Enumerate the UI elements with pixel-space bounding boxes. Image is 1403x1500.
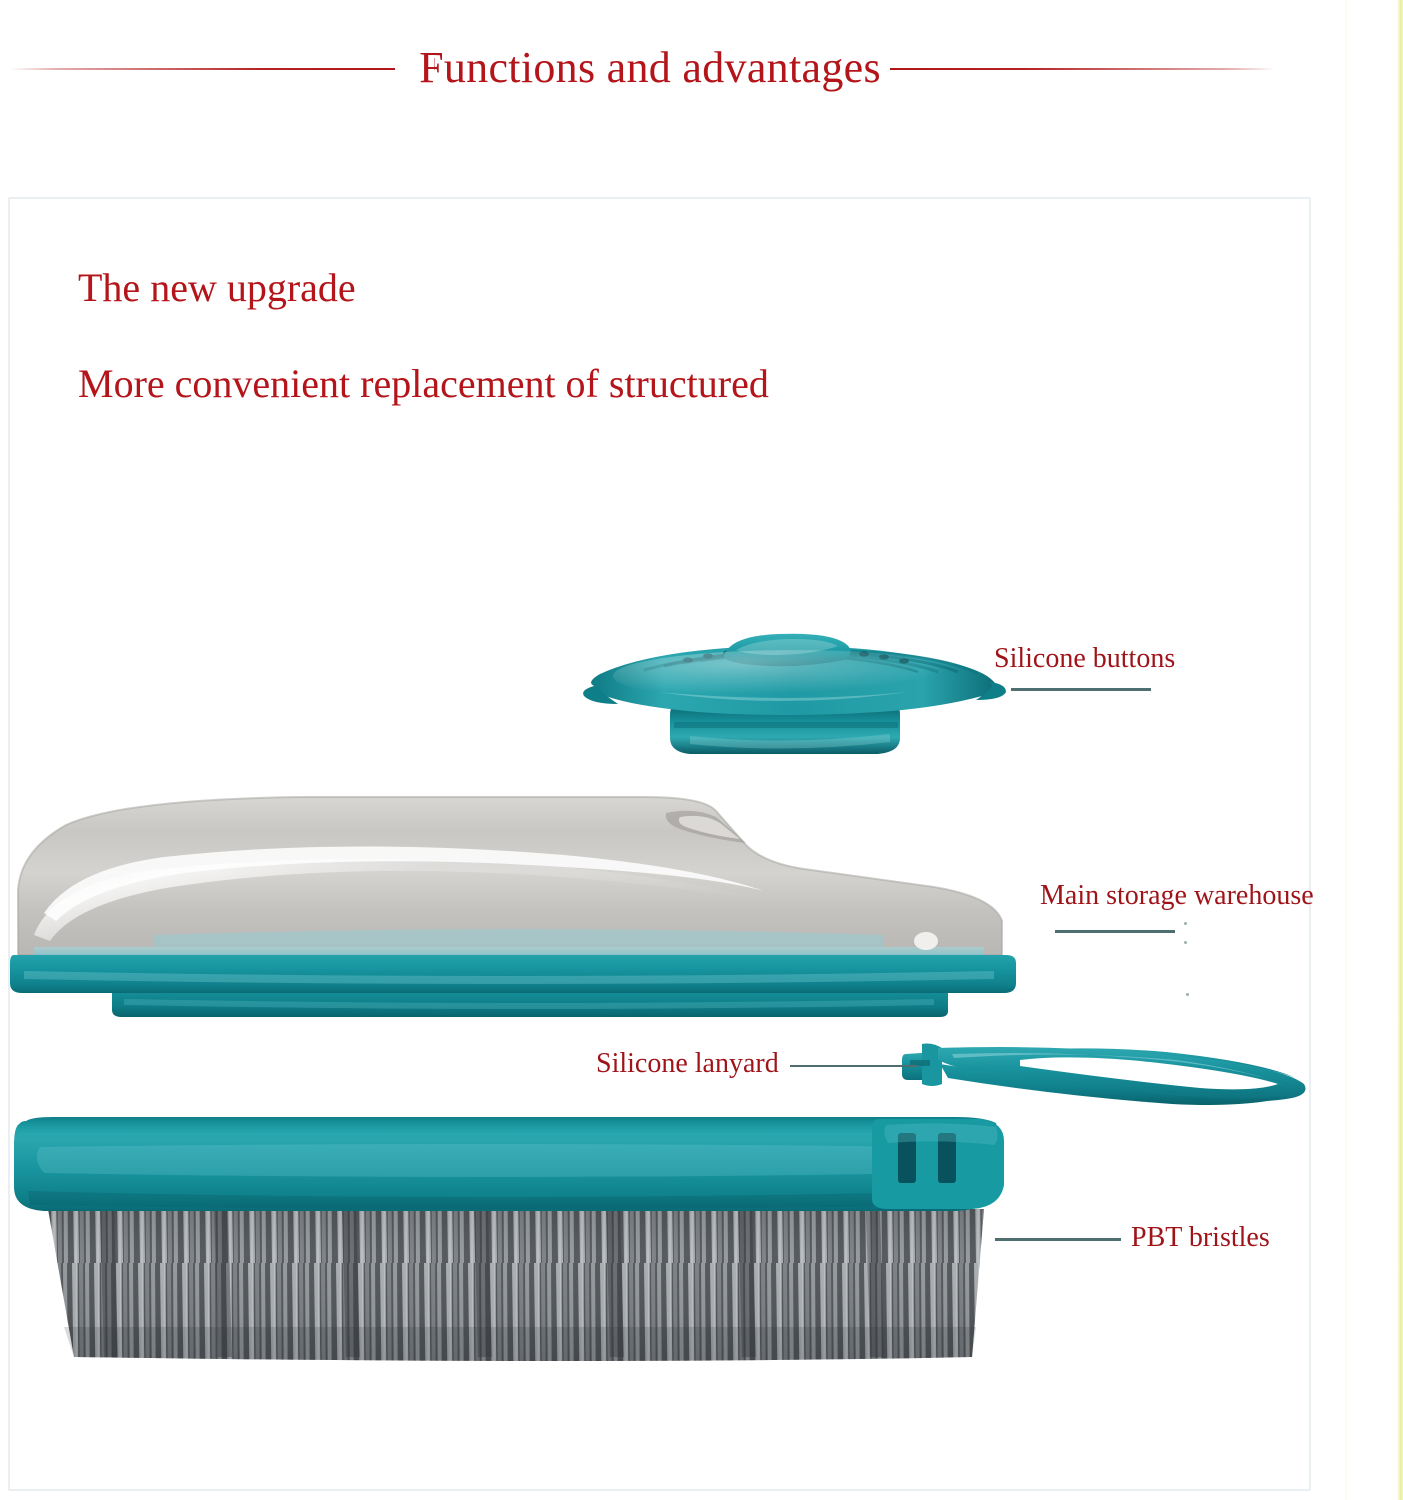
- silicone-button-cap-illustration: [578, 630, 1008, 775]
- leader-line-main-storage-warehouse: [1055, 930, 1175, 933]
- brush-head-illustration: [4, 1113, 1034, 1368]
- edge-accent-inner-line: [1345, 0, 1347, 1500]
- silicone-lanyard-illustration: [900, 1030, 1312, 1110]
- page-header: Functions and advantages: [0, 28, 1403, 108]
- leader-dot-upper: [1184, 922, 1187, 925]
- cap-gloss: [613, 650, 973, 702]
- cap-collar-groove: [674, 722, 898, 728]
- main-storage-warehouse-illustration: [4, 795, 1039, 1020]
- edge-accent-stripe: [1397, 0, 1403, 1500]
- leader-dot-trailing: [1186, 993, 1189, 996]
- pbt-bristle-field: [48, 1209, 984, 1361]
- brush-body-top-edge: [18, 1117, 997, 1135]
- leader-line-silicone-lanyard: [790, 1065, 918, 1067]
- callout-label-silicone-buttons: Silicone buttons: [994, 643, 1175, 675]
- leader-dot-lower: [1184, 941, 1187, 944]
- storage-inner-tint: [34, 947, 984, 955]
- leader-line-silicone-buttons: [1011, 688, 1151, 691]
- intro-line-replacement: More convenient replacement of structure…: [78, 360, 769, 407]
- brush-body-highlight: [37, 1144, 939, 1177]
- callout-label-main-storage-warehouse: Main storage warehouse: [1040, 880, 1314, 912]
- infographic-page: Functions and advantages The new upgrade…: [0, 0, 1403, 1500]
- storage-latch-pip: [914, 932, 938, 950]
- callout-label-silicone-lanyard: Silicone lanyard: [596, 1048, 779, 1080]
- callout-label-pbt-bristles: PBT bristles: [1131, 1222, 1270, 1254]
- leader-line-pbt-bristles: [995, 1238, 1121, 1241]
- intro-line-new-upgrade: The new upgrade: [78, 264, 356, 311]
- page-title: Functions and advantages: [0, 28, 1300, 108]
